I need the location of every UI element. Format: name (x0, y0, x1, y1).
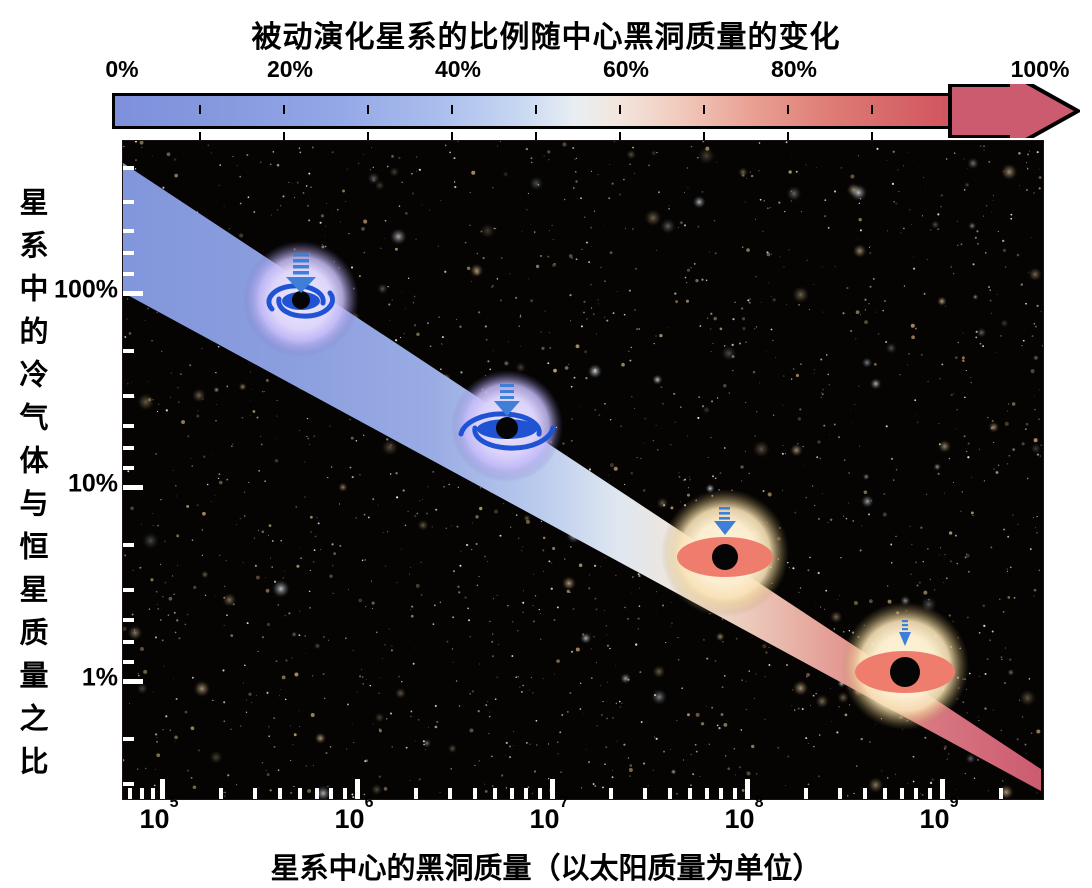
x-minor-tick (719, 788, 723, 799)
y-minor-tick (123, 543, 134, 547)
colorbar-minor-tick-20 (283, 105, 285, 114)
colorbar-tick-60: 60% (603, 56, 649, 83)
black-hole-icon (292, 291, 310, 309)
x-minor-tick (883, 788, 887, 799)
y-minor-tick (123, 166, 134, 170)
x-tick-1e5: 105 (140, 804, 179, 835)
x-minor-tick (999, 788, 1003, 799)
y-tick-100pct: 100% (54, 276, 118, 305)
y-minor-tick (123, 394, 134, 398)
colorbar-minor-tick-30 (367, 105, 369, 114)
x-minor-tick (448, 788, 452, 799)
x-minor-tick (705, 788, 709, 799)
colorbar-tick-labels: 0% 20% 40% 60% 80% 100% (112, 56, 1080, 82)
black-hole-icon (496, 417, 518, 439)
colorbar-tick-40: 40% (435, 56, 481, 83)
x-minor-tick (688, 788, 692, 799)
colorbar-minor-tick-50 (535, 105, 537, 114)
colorbar-gradient-wrap (112, 84, 1080, 138)
y-major-tick-1 (123, 679, 143, 684)
y-minor-tick (123, 466, 134, 470)
page-title: 被动演化星系的比例随中心黑洞质量的变化 (0, 12, 1092, 56)
x-tick-1e6: 106 (335, 804, 374, 835)
colorbar-minor-tick-90 (871, 105, 873, 114)
x-minor-tick (128, 788, 132, 799)
black-hole-icon (890, 657, 920, 687)
colorbar-arrow-icon (948, 84, 1080, 138)
x-major-tick-e7 (550, 779, 555, 799)
y-minor-tick (123, 200, 134, 204)
colorbar-gradient (112, 93, 954, 129)
y-minor-tick (123, 272, 134, 276)
galaxy-marker-3[interactable] (657, 485, 793, 621)
x-minor-tick (151, 788, 155, 799)
black-hole-icon (712, 544, 738, 570)
y-minor-tick (123, 737, 134, 741)
colorbar-minor-tick-80 (787, 105, 789, 114)
colorbar-tick-100: 100% (1011, 56, 1070, 83)
y-major-tick-100 (123, 291, 143, 296)
colorbar-minor-tick-60 (619, 105, 621, 114)
colorbar-tick-20: 20% (267, 56, 313, 83)
x-minor-tick (219, 788, 223, 799)
x-minor-tick (298, 788, 302, 799)
x-minor-tick (914, 788, 918, 799)
x-minor-tick (928, 788, 932, 799)
y-minor-tick (123, 349, 134, 353)
y-minor-tick (123, 229, 134, 233)
x-minor-tick (804, 788, 808, 799)
x-minor-tick (493, 788, 497, 799)
colorbar: 0% 20% 40% 60% 80% 100% (112, 56, 1080, 138)
x-minor-tick (733, 788, 737, 799)
y-minor-tick (123, 782, 134, 786)
x-major-tick-e9 (940, 779, 945, 799)
colorbar-minor-tick-10 (199, 105, 201, 114)
y-minor-tick (123, 446, 134, 450)
y-axis-tick-labels: 100% 10% 1% (0, 0, 118, 888)
x-tick-1e8: 108 (725, 804, 764, 835)
colorbar-minor-tick-40 (451, 105, 453, 114)
x-minor-tick (524, 788, 528, 799)
galaxy-marker-2[interactable] (447, 366, 567, 486)
y-tick-1pct: 1% (82, 664, 118, 693)
plot-panel (122, 140, 1044, 800)
x-tick-1e7: 107 (530, 804, 569, 835)
x-axis-tick-labels: 105 106 107 108 109 (122, 804, 1044, 844)
x-tick-1e9: 109 (920, 804, 959, 835)
x-minor-tick (900, 788, 904, 799)
x-minor-tick (473, 788, 477, 799)
x-minor-tick (643, 788, 647, 799)
galaxy-marker-4[interactable] (837, 598, 973, 734)
y-minor-tick (123, 251, 134, 255)
x-minor-tick (140, 788, 144, 799)
y-tick-10pct: 10% (68, 470, 118, 499)
x-minor-tick (278, 788, 282, 799)
galaxy-marker-1[interactable] (239, 237, 363, 361)
x-minor-tick (609, 788, 613, 799)
y-minor-tick (123, 660, 134, 664)
x-minor-tick (863, 788, 867, 799)
x-minor-tick (538, 788, 542, 799)
x-minor-tick (253, 788, 257, 799)
x-minor-tick (315, 788, 319, 799)
colorbar-tick-80: 80% (771, 56, 817, 83)
x-major-tick-e8 (745, 779, 750, 799)
x-minor-tick (414, 788, 418, 799)
x-major-tick-e6 (355, 779, 360, 799)
y-minor-tick (123, 640, 134, 644)
x-major-tick-e5 (160, 779, 165, 799)
x-minor-tick (838, 788, 842, 799)
x-minor-tick (329, 788, 333, 799)
x-axis-title: 星系中心的黑洞质量（以太阳质量为单位） (0, 845, 1092, 887)
colorbar-minor-tick-70 (703, 105, 705, 114)
y-minor-tick (123, 424, 134, 428)
y-major-tick-10 (123, 485, 143, 490)
y-minor-tick (123, 588, 134, 592)
x-minor-tick (510, 788, 514, 799)
x-minor-tick (343, 788, 347, 799)
x-minor-tick (668, 788, 672, 799)
y-minor-tick (123, 618, 134, 622)
